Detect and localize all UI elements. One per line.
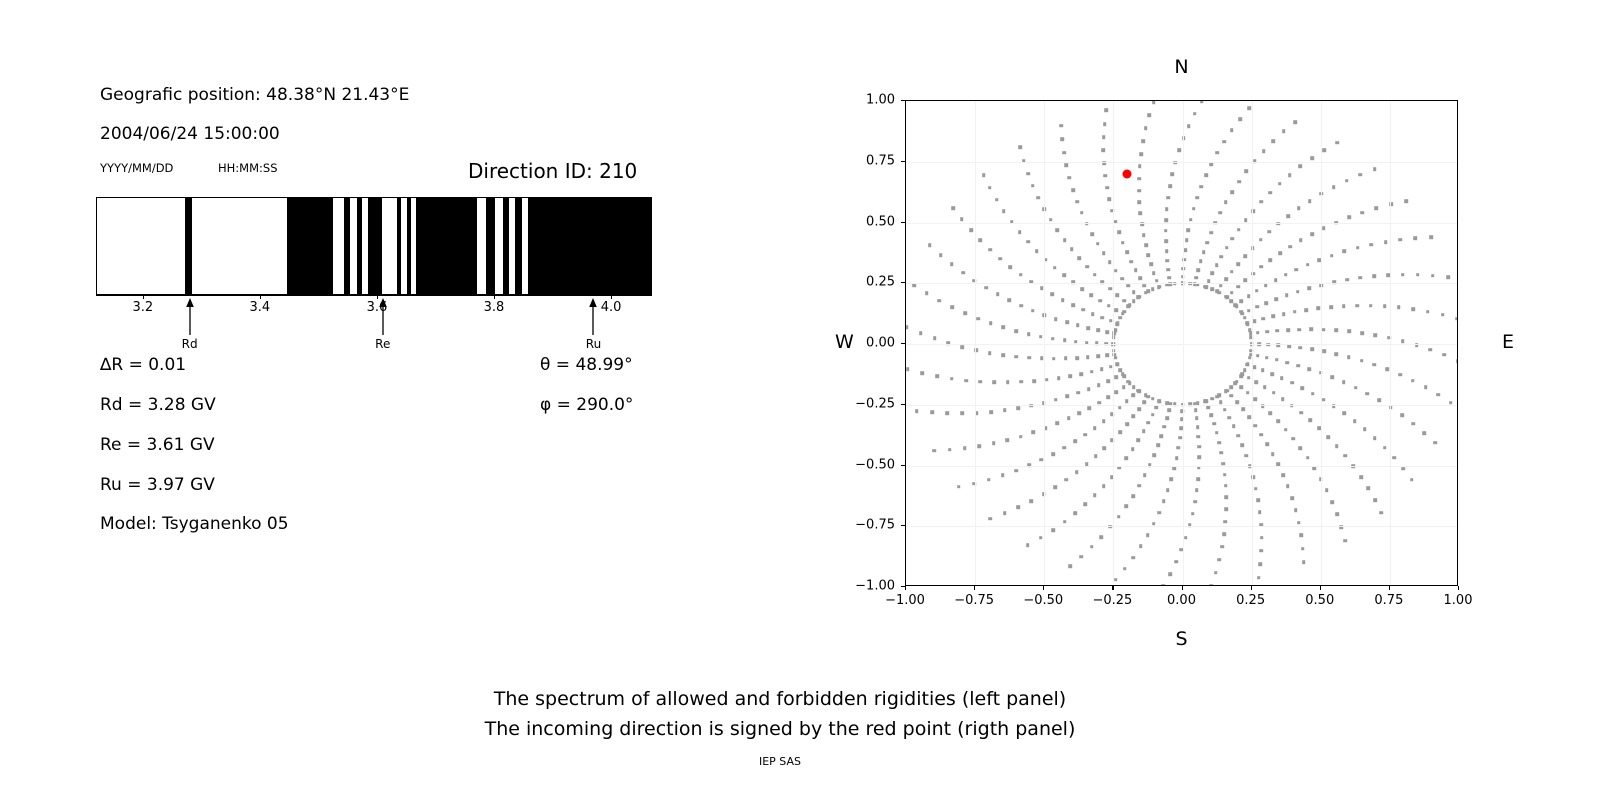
direction-point [1236, 285, 1240, 289]
direction-point [1029, 499, 1033, 503]
rigidity-tick-label: 4.0 [601, 300, 622, 315]
direction-point [1335, 444, 1339, 448]
direction-point [1080, 372, 1084, 376]
x-tick [1182, 586, 1183, 590]
direction-point [1247, 415, 1251, 419]
direction-point [1096, 242, 1100, 246]
direction-point [933, 337, 937, 341]
direction-point [1204, 285, 1208, 289]
direction-point [1297, 521, 1301, 525]
direction-point [1285, 293, 1289, 297]
direction-point [1108, 287, 1112, 291]
direction-point [1177, 446, 1181, 450]
direction-point [1280, 376, 1284, 380]
direction-point [1122, 385, 1126, 389]
direction-point [1016, 506, 1020, 510]
geographic-position: Geografic position: 48.38°N 21.43°E [100, 85, 409, 105]
direction-point [1370, 243, 1374, 247]
param-re: Re = 3.61 GV [100, 435, 215, 455]
direction-point [1401, 273, 1405, 277]
direction-point [1286, 214, 1290, 218]
direction-point [1164, 239, 1168, 243]
y-tick-label: 1.00 [843, 93, 895, 108]
direction-point [1219, 284, 1223, 288]
direction-point [1282, 130, 1286, 134]
y-tick [901, 161, 905, 162]
direction-point [1217, 291, 1221, 295]
direction-id-label: Direction ID: 210 [468, 159, 637, 183]
direction-point [1123, 567, 1127, 571]
direction-point [1083, 433, 1087, 437]
direction-point [1065, 164, 1069, 168]
direction-point [1074, 340, 1078, 344]
direction-point [1039, 536, 1043, 540]
direction-point [1090, 293, 1094, 297]
direction-point [1094, 454, 1098, 458]
direction-point [1064, 478, 1068, 482]
rigidity-axis: 3.23.43.63.84.0RdReRu [96, 295, 652, 355]
direction-point [1197, 466, 1201, 470]
direction-point [1142, 400, 1146, 404]
direction-point [1308, 286, 1312, 290]
direction-point [1102, 484, 1106, 488]
direction-point [1269, 258, 1273, 262]
forbidden-band [416, 198, 477, 294]
direction-point [1298, 328, 1302, 332]
direction-point [1373, 436, 1377, 440]
direction-point [1254, 487, 1258, 491]
direction-point [915, 409, 919, 413]
direction-point [1262, 149, 1266, 153]
direction-point [1075, 470, 1079, 474]
direction-point [921, 371, 925, 375]
direction-point [1137, 189, 1141, 193]
direction-point [1155, 279, 1159, 283]
direction-point [1232, 425, 1236, 429]
direction-point [1224, 200, 1228, 204]
direction-point [1223, 408, 1227, 412]
x-tick [1112, 586, 1113, 590]
direction-point [992, 442, 996, 446]
direction-point [1096, 329, 1100, 333]
rigidity-tick-label: 3.4 [250, 300, 271, 315]
direction-point [1152, 454, 1156, 458]
direction-point [939, 253, 943, 257]
direction-point [1335, 352, 1339, 356]
direction-point [1102, 136, 1106, 140]
direction-point [1359, 475, 1363, 479]
forbidden-band [486, 198, 495, 294]
direction-point [1284, 273, 1288, 277]
direction-point [1172, 467, 1176, 471]
direction-point [1223, 473, 1227, 477]
direction-point [1104, 109, 1108, 113]
direction-point [1345, 278, 1349, 282]
direction-point [1230, 385, 1234, 389]
direction-point [1265, 330, 1269, 334]
direction-point [1027, 356, 1031, 360]
direction-point [1375, 206, 1379, 210]
compass-south: S [1175, 628, 1187, 650]
direction-point [1115, 293, 1119, 297]
direction-point [1247, 309, 1251, 313]
direction-point [1211, 272, 1215, 276]
direction-point [1144, 394, 1148, 398]
direction-point [1239, 299, 1243, 303]
direction-point [1224, 484, 1228, 488]
direction-point [1125, 400, 1129, 404]
direction-point [1210, 162, 1214, 166]
direction-point [1243, 369, 1247, 373]
direction-point [1118, 430, 1122, 434]
direction-point [1236, 434, 1240, 438]
time-format-hint: HH:MM:SS [218, 161, 278, 175]
direction-point [1247, 376, 1251, 380]
direction-point [1063, 339, 1067, 343]
direction-point [1276, 419, 1280, 423]
direction-point [1260, 536, 1264, 540]
direction-point [1268, 412, 1272, 416]
direction-point [1230, 129, 1234, 133]
direction-point [1299, 411, 1303, 415]
direction-point [1259, 238, 1263, 242]
direction-point [1224, 295, 1228, 299]
direction-point [1137, 484, 1141, 488]
direction-point [989, 410, 993, 414]
direction-point [1274, 278, 1278, 282]
direction-point [1081, 308, 1085, 312]
direction-point [1195, 196, 1199, 200]
direction-point [1002, 326, 1006, 330]
direction-point [1286, 328, 1290, 332]
direction-point [1426, 310, 1430, 314]
direction-point [1187, 124, 1191, 128]
direction-point [1124, 457, 1128, 461]
direction-point [1115, 362, 1119, 366]
direction-point [1335, 513, 1339, 517]
direction-point [1037, 196, 1041, 200]
direction-point [1306, 263, 1310, 267]
compass-west: W [835, 331, 854, 353]
direction-point [1078, 257, 1082, 261]
direction-point [961, 271, 965, 275]
direction-point [1127, 304, 1131, 308]
direction-point [1288, 245, 1292, 249]
direction-point [1401, 467, 1405, 471]
direction-point [1100, 316, 1104, 320]
direction-point [1271, 315, 1275, 319]
direction-point [1149, 263, 1153, 267]
direction-point [1091, 312, 1095, 316]
direction-point [1052, 357, 1056, 361]
direction-point [1141, 139, 1145, 143]
direction-point [1436, 393, 1440, 397]
y-tick-label: −0.50 [843, 457, 895, 472]
direction-point [1443, 353, 1447, 357]
direction-point [1067, 417, 1071, 421]
direction-point [1214, 571, 1218, 575]
direction-point [1404, 199, 1408, 203]
direction-point [1154, 405, 1158, 409]
direction-point [1178, 436, 1182, 440]
direction-point [1216, 151, 1220, 155]
gridline-vertical [1183, 101, 1184, 585]
direction-point [1053, 266, 1057, 270]
direction-point [1264, 301, 1268, 305]
y-tick [901, 404, 905, 405]
direction-point [1147, 114, 1151, 118]
direction-point [1093, 273, 1097, 277]
direction-point [1231, 237, 1235, 241]
direction-point [995, 198, 999, 202]
direction-point [1050, 293, 1054, 297]
direction-point [1056, 228, 1060, 232]
direction-point [919, 331, 923, 335]
direction-point [1115, 308, 1119, 312]
direction-point [1165, 416, 1169, 420]
direction-point [1137, 177, 1141, 181]
direction-point [1239, 386, 1243, 390]
direction-point [1414, 237, 1418, 241]
direction-point [1263, 385, 1267, 389]
y-tick-label: 0.50 [843, 214, 895, 229]
direction-point [1238, 117, 1242, 121]
direction-point [1193, 112, 1197, 116]
gridline-horizontal [906, 405, 1457, 406]
direction-point [1143, 284, 1147, 288]
direction-point [1243, 316, 1247, 320]
param-phi: φ = 290.0° [540, 395, 633, 415]
direction-point [1256, 354, 1260, 358]
rigidity-tick [494, 295, 495, 299]
x-tick [974, 586, 975, 590]
forbidden-band [528, 198, 652, 294]
direction-point [1054, 398, 1058, 402]
direction-point [1433, 441, 1437, 445]
direction-point [1397, 306, 1401, 310]
direction-point [1014, 355, 1018, 359]
direction-point [1132, 299, 1136, 303]
direction-point [1317, 307, 1321, 311]
direction-point [1130, 260, 1134, 264]
direction-point [1139, 212, 1143, 216]
direction-point [1080, 555, 1084, 559]
caption-line-2: The incoming direction is signed by the … [0, 714, 1560, 744]
direction-point [1168, 572, 1172, 576]
direction-point [1137, 407, 1141, 411]
figure-caption: The spectrum of allowed and forbidden ri… [0, 684, 1560, 744]
direction-point [1051, 337, 1055, 341]
incoming-direction-point [1123, 169, 1132, 178]
direction-point [1086, 356, 1090, 360]
direction-point [1121, 241, 1125, 245]
direction-point [1354, 386, 1358, 390]
direction-point [1243, 278, 1247, 282]
direction-point [1192, 207, 1196, 211]
direction-point [1014, 469, 1018, 473]
forbidden-band [407, 198, 411, 294]
direction-point [1103, 122, 1107, 126]
direction-point [1209, 413, 1213, 417]
x-tick [1320, 586, 1321, 590]
direction-point [1308, 199, 1312, 203]
direction-point [1218, 558, 1222, 562]
direction-point [1243, 254, 1247, 258]
direction-point [1275, 358, 1279, 362]
forbidden-band [357, 198, 361, 294]
direction-point [1329, 305, 1333, 309]
direction-point [1161, 585, 1165, 586]
direction-point [963, 446, 967, 450]
direction-point [1322, 226, 1326, 230]
direction-point [925, 292, 929, 296]
direction-point [1142, 233, 1146, 237]
param-theta: θ = 48.99° [540, 355, 633, 375]
direction-point [960, 345, 964, 349]
direction-point [1100, 535, 1104, 539]
direction-point [1103, 446, 1107, 450]
direction-point [1265, 356, 1269, 360]
direction-point [1115, 322, 1119, 326]
direction-point [1169, 477, 1173, 481]
direction-point [1195, 488, 1199, 492]
direction-point [1151, 287, 1155, 291]
x-tick [1458, 586, 1459, 590]
direction-point [1132, 291, 1136, 295]
direction-point [1039, 335, 1043, 339]
direction-point [1174, 560, 1178, 564]
direction-point [984, 286, 988, 290]
marker-arrow-rd [183, 297, 197, 335]
direction-point [1158, 285, 1162, 289]
direction-point [1275, 329, 1279, 333]
direction-point [1211, 397, 1215, 401]
direction-point [1230, 299, 1234, 303]
direction-point [1057, 376, 1061, 380]
direction-point [1400, 413, 1404, 417]
rigidity-spectrum-chart [96, 197, 652, 295]
caption-line-1: The spectrum of allowed and forbidden ri… [0, 684, 1560, 714]
direction-point [1278, 252, 1282, 256]
direction-point [1457, 359, 1458, 363]
marker-label-ru: Ru [586, 337, 601, 351]
direction-point [1299, 446, 1303, 450]
direction-point [1196, 425, 1200, 429]
direction-point [1098, 299, 1102, 303]
direction-point [1008, 299, 1012, 303]
direction-point [1193, 500, 1197, 504]
direction-point [1157, 511, 1161, 515]
direction-point [969, 228, 973, 232]
direction-point [1367, 487, 1371, 491]
direction-point [1310, 156, 1314, 160]
direction-point [1239, 310, 1243, 314]
direction-point [1040, 357, 1044, 361]
direction-point [1125, 251, 1129, 255]
direction-point [1005, 438, 1009, 442]
direction-point [1195, 416, 1199, 420]
direction-point [1118, 406, 1122, 410]
direction-point [1309, 328, 1313, 332]
direction-point [1122, 310, 1126, 314]
direction-point [1060, 137, 1064, 141]
direction-point [1288, 173, 1292, 177]
direction-point [1138, 165, 1142, 169]
x-tick-label: 0.50 [1305, 593, 1334, 608]
direction-point [1053, 485, 1057, 489]
direction-point [1385, 368, 1389, 372]
direction-point [1255, 305, 1259, 309]
direction-point [951, 206, 955, 210]
rigidity-tick-label: 3.2 [132, 300, 153, 315]
direction-point [1257, 576, 1261, 580]
direction-point [1071, 188, 1075, 192]
direction-point [1253, 397, 1257, 401]
y-tick [901, 222, 905, 223]
x-tick-label: 1.00 [1444, 593, 1473, 608]
direction-point [1241, 408, 1245, 412]
param-rd: Rd = 3.28 GV [100, 395, 216, 415]
gridline-horizontal [906, 526, 1457, 527]
direction-point [1087, 326, 1091, 330]
direction-point [1202, 250, 1206, 254]
direction-point [1171, 173, 1175, 177]
direction-point [1054, 317, 1058, 321]
direction-point [1268, 191, 1272, 195]
direction-point [1131, 415, 1135, 419]
direction-point [1310, 232, 1314, 236]
direction-point [1031, 184, 1035, 188]
gridline-vertical [975, 101, 976, 585]
direction-point [1347, 355, 1351, 359]
direction-point [1185, 239, 1189, 243]
direction-point [1240, 444, 1244, 448]
direction-point [1035, 249, 1039, 253]
direction-point [1088, 406, 1092, 410]
y-tick-label: 0.75 [843, 153, 895, 168]
x-tick [1043, 586, 1044, 590]
observation-datetime: 2004/06/24 15:00:00 [100, 124, 280, 144]
direction-point [1204, 174, 1208, 178]
direction-point [1132, 385, 1136, 389]
direction-point [1019, 304, 1023, 308]
forbidden-band [368, 198, 383, 294]
direction-point [905, 325, 908, 329]
direction-point [1446, 275, 1450, 279]
direction-point [1372, 363, 1376, 367]
direction-point [1194, 408, 1198, 412]
direction-point [1139, 545, 1143, 549]
marker-label-rd: Rd [182, 337, 198, 351]
gridline-horizontal [906, 223, 1457, 224]
direction-point [1164, 218, 1168, 222]
direction-point [1187, 228, 1191, 232]
direction-point [1019, 435, 1023, 439]
direction-point [1196, 268, 1200, 272]
direction-point [1142, 430, 1146, 434]
direction-map-panel: −1.00−0.75−0.50−0.250.000.250.500.751.00… [790, 40, 1550, 660]
gridline-horizontal [906, 162, 1457, 163]
direction-point [1237, 180, 1241, 184]
direction-point [1146, 533, 1150, 537]
direction-point [1296, 364, 1300, 368]
direction-point [1235, 304, 1239, 308]
direction-point [1235, 400, 1239, 404]
direction-point [1196, 477, 1200, 481]
direction-point [1355, 304, 1359, 308]
forbidden-band [185, 198, 192, 294]
direction-point [1313, 466, 1317, 470]
